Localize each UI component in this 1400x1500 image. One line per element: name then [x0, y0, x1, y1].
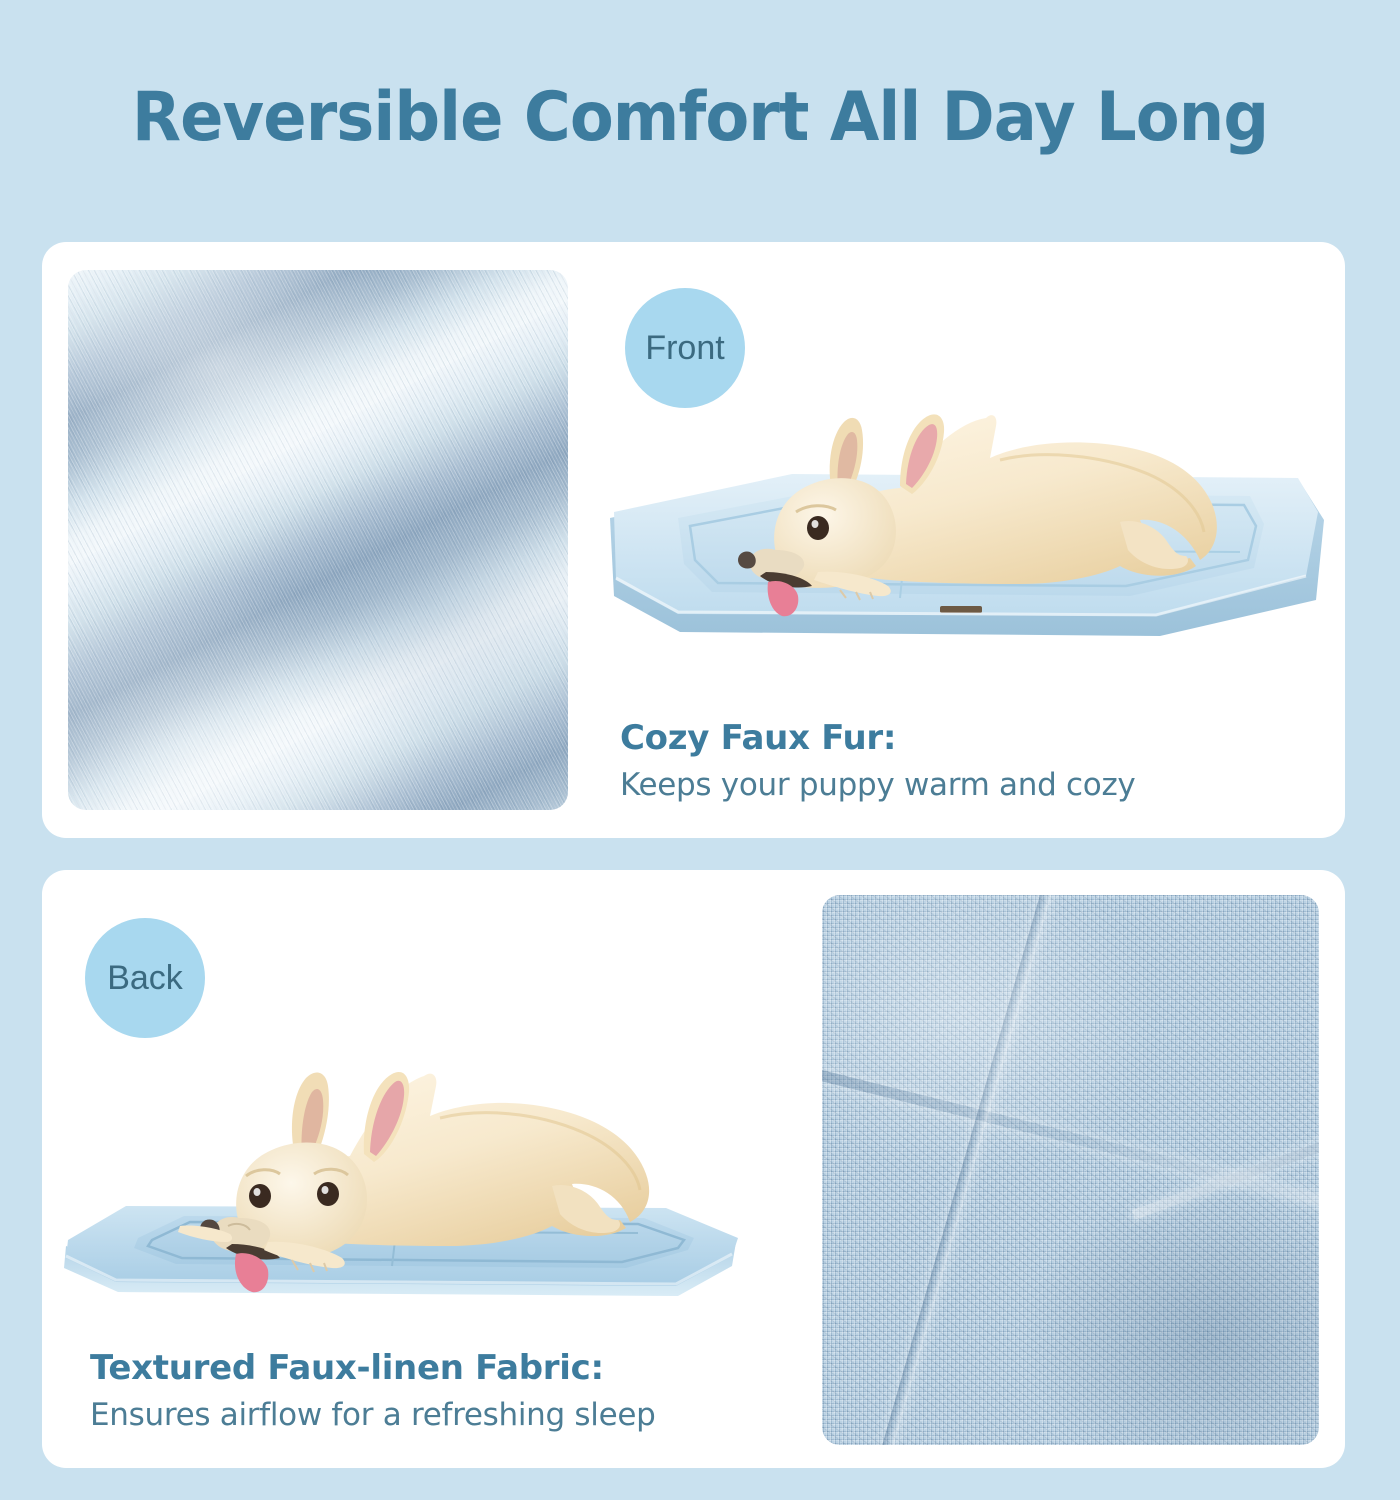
- product-photo-front: [600, 400, 1330, 690]
- page-title: Reversible Comfort All Day Long: [42, 78, 1358, 157]
- caption-back-title: Textured Faux-linen Fabric:: [90, 1348, 656, 1388]
- fur-shading-overlay: [68, 270, 568, 810]
- linen-shading-overlay: [822, 895, 1319, 1445]
- caption-back-subtitle: Ensures airflow for a refreshing sleep: [90, 1397, 656, 1433]
- badge-front: Front: [625, 288, 745, 408]
- brand-tag: [940, 606, 982, 613]
- caption-back: Textured Faux-linen Fabric: Ensures airf…: [90, 1348, 656, 1433]
- badge-front-label: Front: [645, 329, 724, 368]
- caption-front-subtitle: Keeps your puppy warm and cozy: [620, 767, 1135, 803]
- badge-back: Back: [85, 918, 205, 1038]
- badge-back-label: Back: [107, 959, 183, 998]
- caption-front: Cozy Faux Fur: Keeps your puppy warm and…: [620, 718, 1135, 803]
- caption-front-title: Cozy Faux Fur:: [620, 718, 1135, 758]
- faux-linen-texture-image: [822, 895, 1319, 1445]
- product-photo-back: [60, 1010, 760, 1310]
- faux-fur-texture-image: [68, 270, 568, 810]
